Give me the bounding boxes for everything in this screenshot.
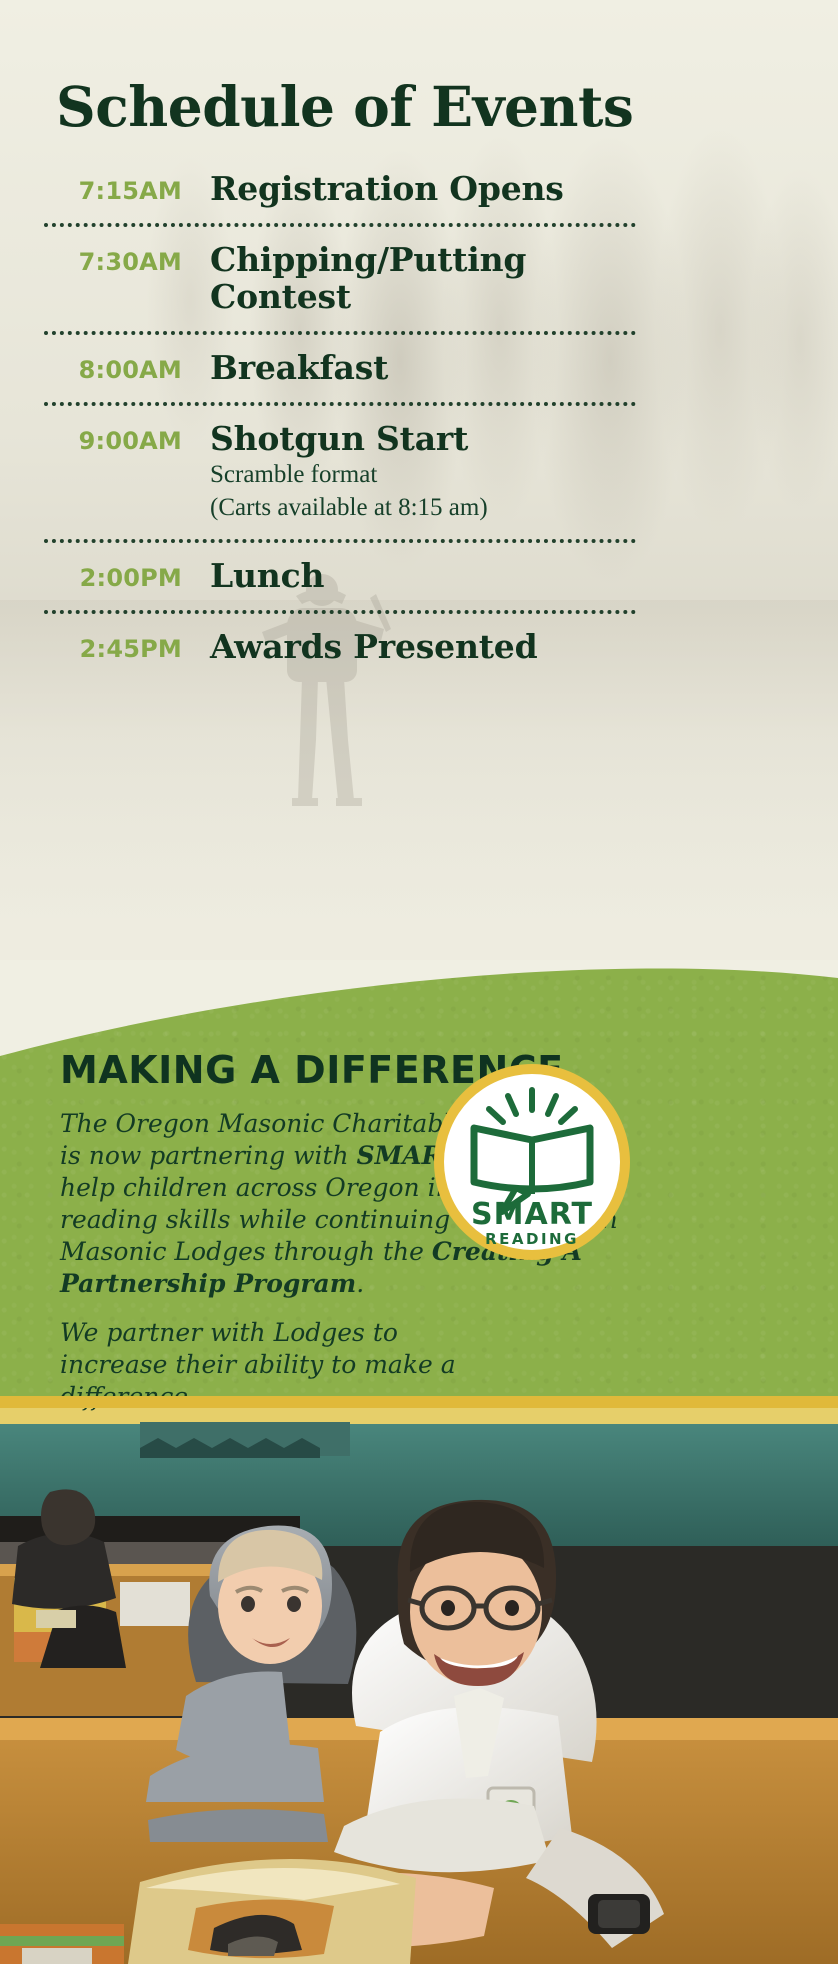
row-event: Chipping/Putting Contest	[210, 242, 640, 316]
row-event: Lunch	[210, 558, 324, 595]
gold-accent-bar	[0, 1396, 838, 1408]
section-heading: MAKING A DIFFERENCE	[60, 1048, 796, 1092]
schedule-rows: 7:15AM Registration Opens 7:30AM Chippin…	[40, 160, 640, 677]
schedule-row: 8:00AM Breakfast	[40, 339, 640, 398]
making-a-difference-section: MAKING A DIFFERENCE The Oregon Masonic C…	[0, 960, 838, 1430]
schedule-row: 9:00AM Shotgun Start Scramble format (Ca…	[40, 410, 640, 535]
row-time: 2:45PM	[40, 629, 188, 661]
schedule-row: 7:30AM Chipping/Putting Contest	[40, 231, 640, 327]
row-event: Shotgun Start	[210, 421, 488, 458]
row-divider	[44, 402, 636, 406]
row-time: 2:00PM	[40, 558, 188, 590]
row-subtext: Scramble format	[210, 459, 488, 491]
para1-part-e: .	[356, 1269, 364, 1298]
smart-reading-logo: SMART READING	[432, 1062, 632, 1262]
schedule-row: 2:00PM Lunch	[40, 547, 640, 606]
page-title: Schedule of Events	[56, 78, 633, 136]
row-time: 7:15AM	[40, 171, 188, 203]
logo-line1: SMART	[471, 1197, 593, 1232]
row-event: Registration Opens	[210, 171, 564, 208]
event-poster: Schedule of Events 7:15AM Registration O…	[0, 0, 838, 1964]
row-event: Awards Presented	[210, 629, 537, 666]
row-subtext: (Carts available at 8:15 am)	[210, 492, 488, 524]
row-event: Breakfast	[210, 350, 388, 387]
row-divider	[44, 539, 636, 543]
row-time: 8:00AM	[40, 350, 188, 382]
row-divider	[44, 223, 636, 227]
schedule-row: 7:15AM Registration Opens	[40, 160, 640, 219]
schedule-row: 2:45PM Awards Presented	[40, 618, 640, 677]
row-divider	[44, 331, 636, 335]
classroom-photo	[0, 1396, 838, 1964]
row-time: 7:30AM	[40, 242, 188, 274]
logo-line2: READING	[485, 1230, 579, 1248]
schedule-section: Schedule of Events 7:15AM Registration O…	[0, 0, 838, 1045]
row-divider	[44, 610, 636, 614]
row-time: 9:00AM	[40, 421, 188, 453]
